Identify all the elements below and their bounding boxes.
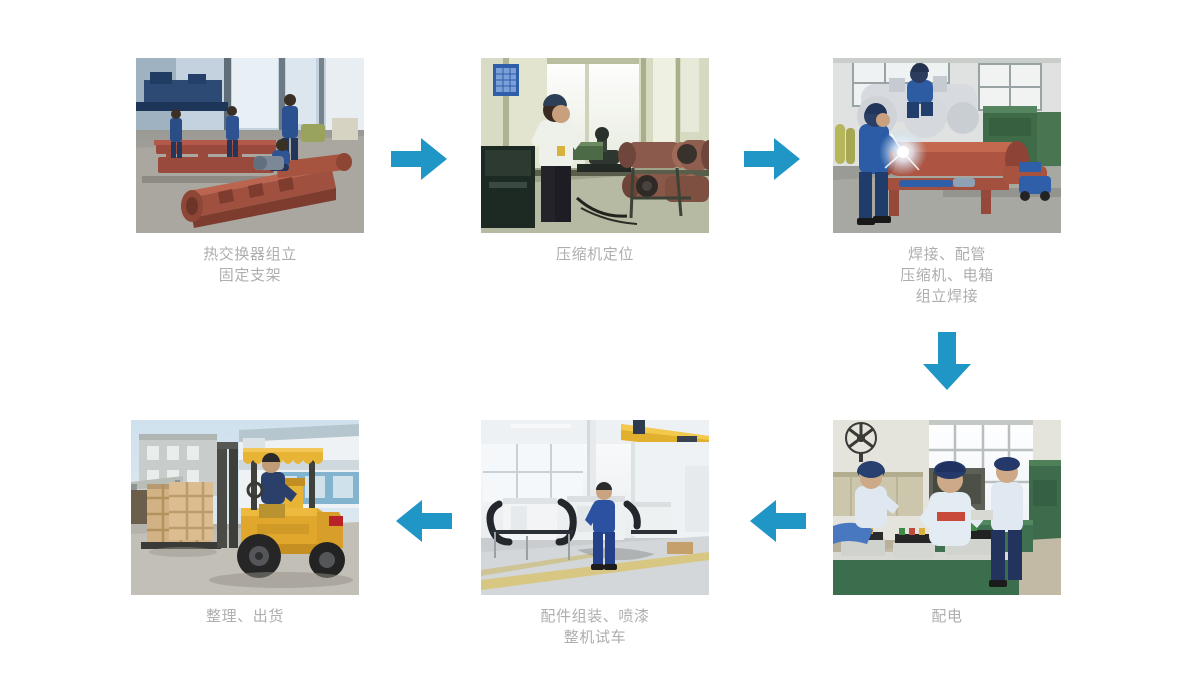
arrow-right-step1-step2 — [389, 136, 449, 182]
arrow-down-step3-step4 — [921, 330, 973, 392]
production-flow-diagram: 热交换器组立 固定支架 — [0, 0, 1200, 685]
packing-shipping-photo — [131, 420, 359, 595]
flow-step-4-caption: 配电 — [833, 606, 1061, 627]
flow-step-1: 热交换器组立 固定支架 — [136, 58, 364, 286]
flow-step-3: 焊接、配管 压缩机、电箱 组立焊接 — [833, 58, 1061, 307]
arrow-right-step2-step3 — [742, 136, 802, 182]
flow-step-6: 整理、出货 — [131, 420, 359, 627]
flow-step-4: 配电 — [833, 420, 1061, 627]
heat-exchanger-assembly-photo — [136, 58, 364, 233]
arrow-left-step5-step6 — [394, 498, 454, 544]
assembly-painting-testrun-photo — [481, 420, 709, 595]
flow-step-1-caption: 热交换器组立 固定支架 — [136, 244, 364, 286]
flow-step-2-caption: 压缩机定位 — [481, 244, 709, 265]
welding-piping-photo — [833, 58, 1061, 233]
electrical-wiring-photo — [833, 420, 1061, 595]
flow-step-6-caption: 整理、出货 — [131, 606, 359, 627]
compressor-positioning-photo — [481, 58, 709, 233]
flow-step-2: 压缩机定位 — [481, 58, 709, 265]
arrow-left-step4-step5 — [748, 498, 808, 544]
flow-step-5-caption: 配件组装、喷漆 整机试车 — [481, 606, 709, 648]
flow-step-5: 配件组装、喷漆 整机试车 — [481, 420, 709, 648]
flow-step-3-caption: 焊接、配管 压缩机、电箱 组立焊接 — [833, 244, 1061, 307]
